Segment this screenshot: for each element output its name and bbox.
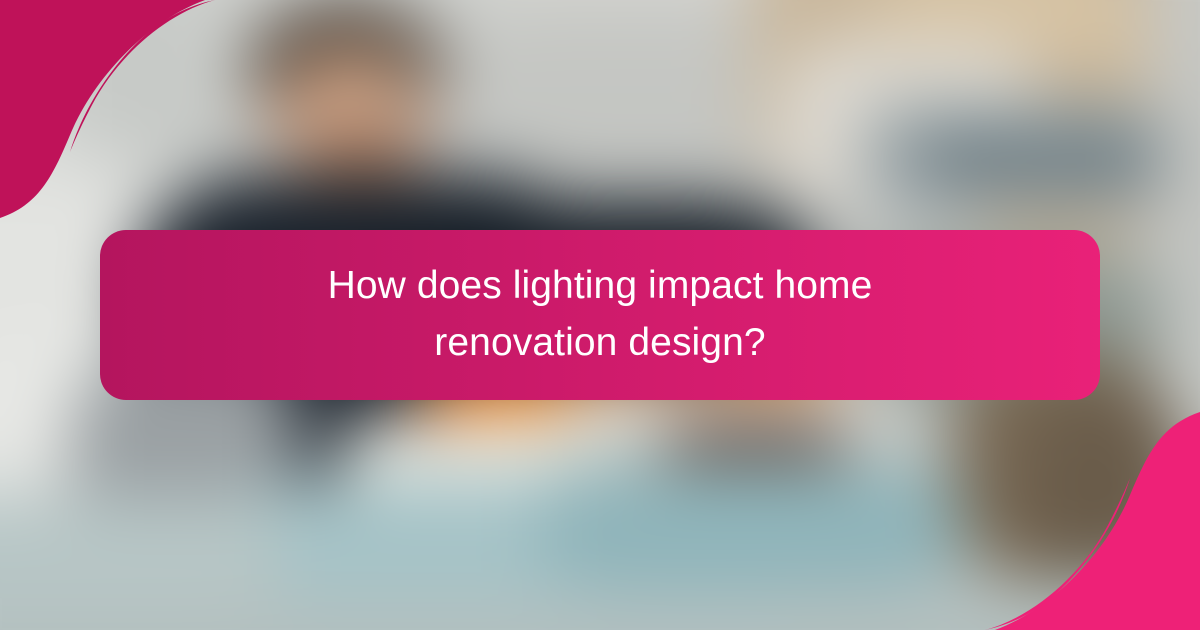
bg-shape-brown-right-2 (1020, 390, 1190, 580)
question-banner: How does lighting impact home renovation… (100, 230, 1100, 400)
bg-shape-metal-right-2 (920, 130, 1160, 190)
bg-shape-column-left (80, 0, 200, 160)
question-title: How does lighting impact home renovation… (280, 258, 920, 371)
question-card: How does lighting impact home renovation… (0, 0, 1200, 630)
bg-shape-teal-surface-2 (540, 460, 960, 590)
bg-shape-teal-left (0, 495, 280, 605)
